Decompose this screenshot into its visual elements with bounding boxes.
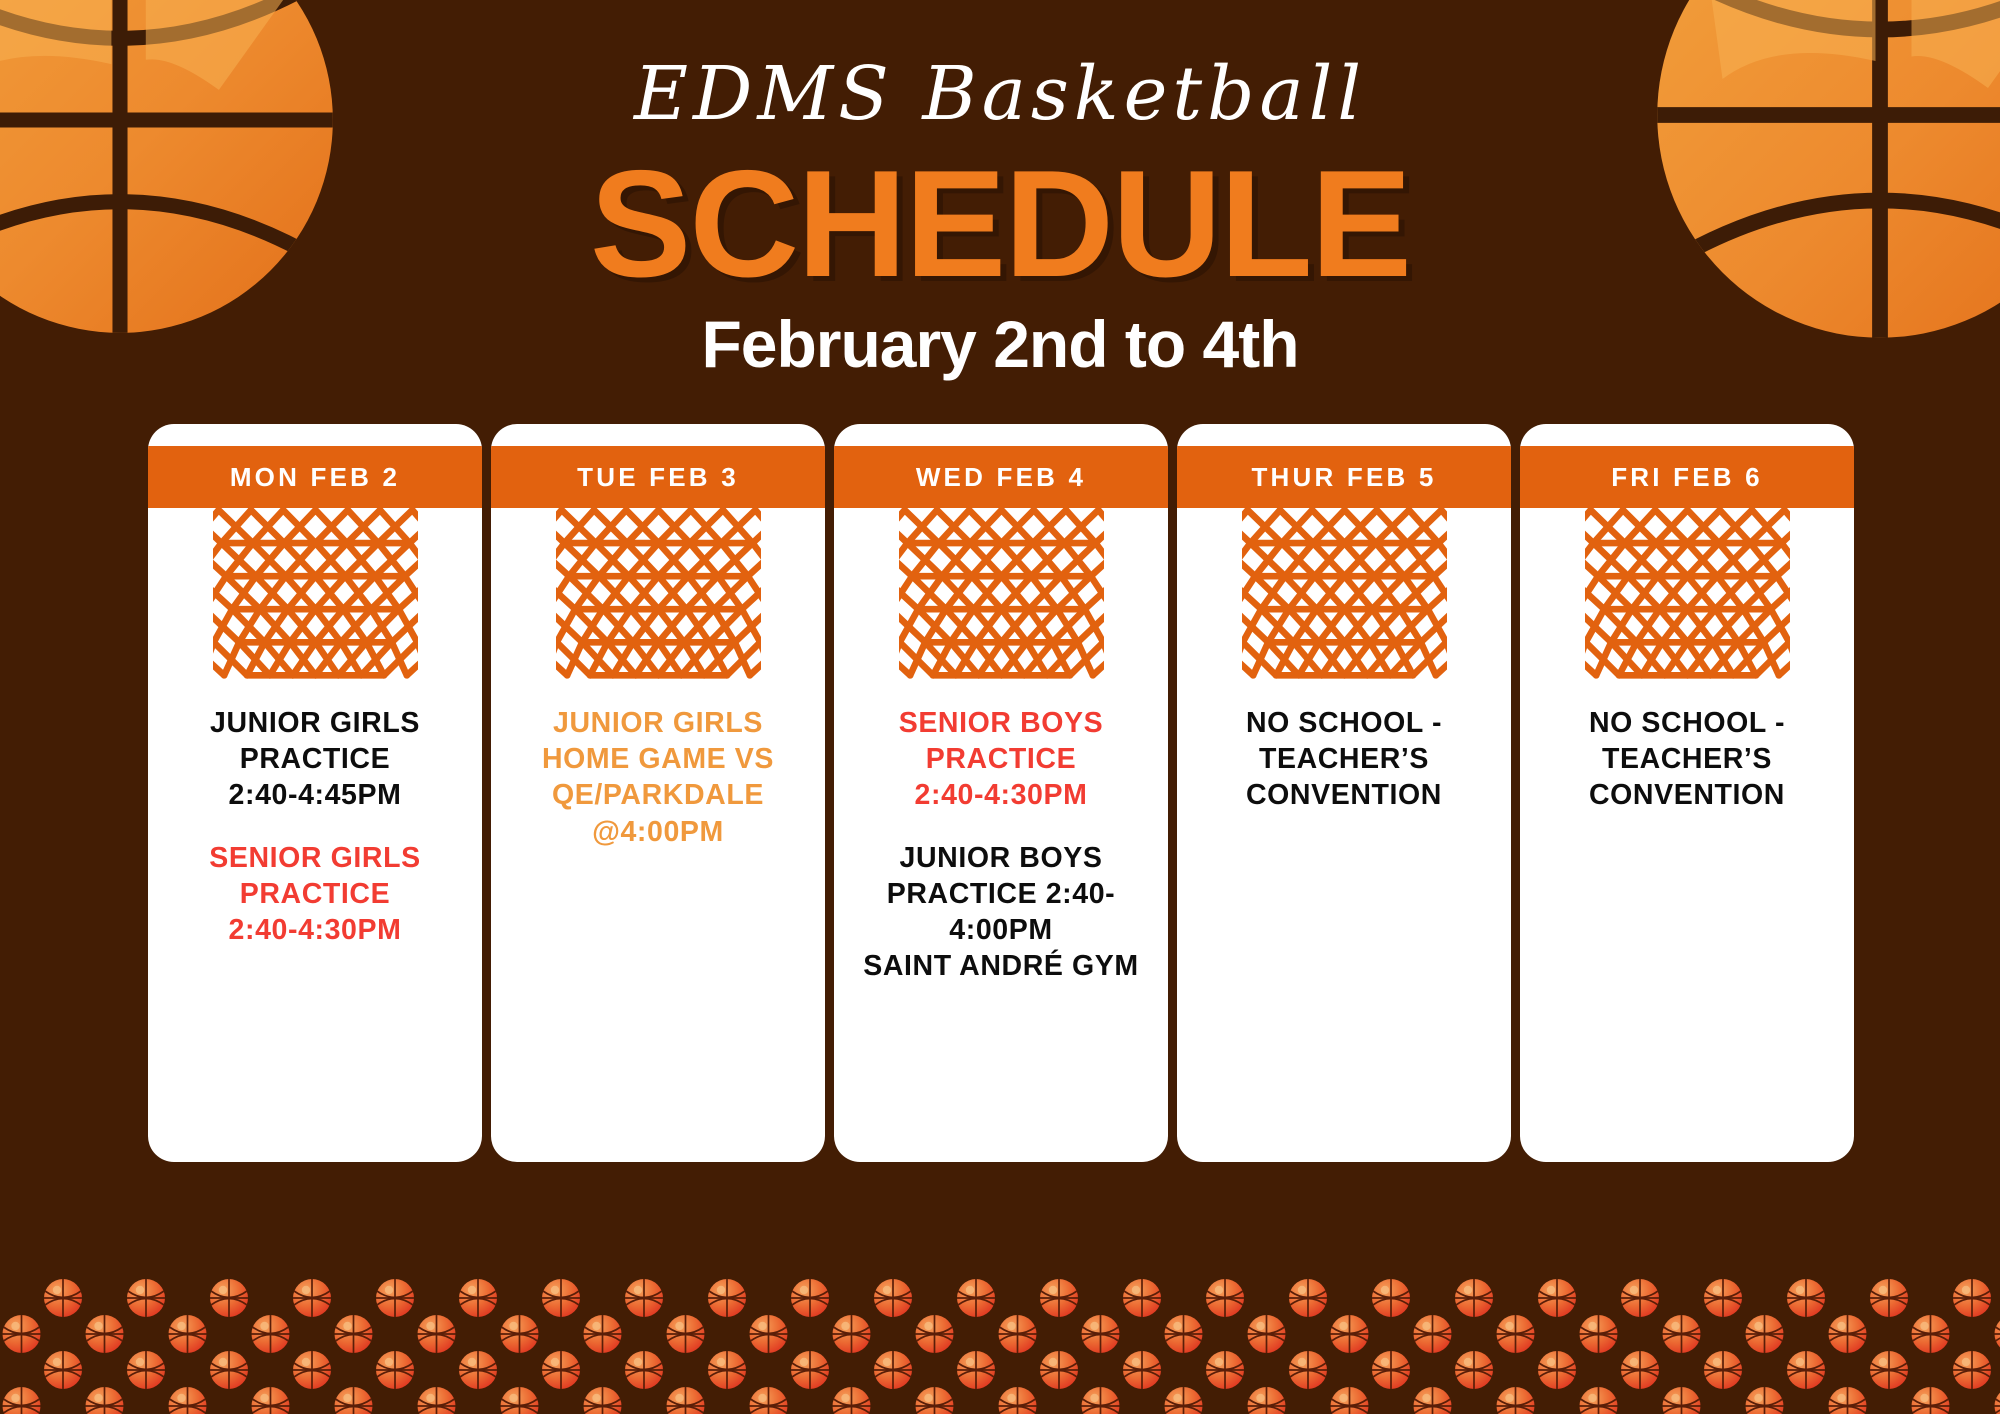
event-line: @4:00PM	[505, 814, 811, 850]
day-header-0: MON FEB 2	[148, 446, 482, 508]
day-header-2: WED FEB 4	[834, 446, 1168, 508]
net-graphic	[148, 508, 482, 683]
event-line: SAINT ANDRÉ GYM	[848, 948, 1154, 984]
basketball-net-icon	[556, 508, 761, 683]
event-block: JUNIOR GIRLSPRACTICE2:40-4:45PM	[162, 705, 468, 814]
basketball-pattern-strip	[0, 1274, 2000, 1414]
event-block: JUNIOR GIRLSHOME GAME VSQE/PARKDALE@4:00…	[505, 705, 811, 850]
net-graphic	[1177, 508, 1511, 683]
day-card[interactable]: THUR FEB 5NO SCHOOL -TEACHER’SCONVENTION	[1177, 424, 1511, 1162]
day-events: SENIOR BOYSPRACTICE2:40-4:30PMJUNIOR BOY…	[834, 683, 1168, 994]
event-line: JUNIOR BOYS	[848, 840, 1154, 876]
event-line: CONVENTION	[1534, 777, 1840, 813]
event-block: SENIOR BOYSPRACTICE2:40-4:30PM	[848, 705, 1154, 814]
net-graphic	[1520, 508, 1854, 683]
basketball-net-icon	[1585, 508, 1790, 683]
day-events: NO SCHOOL -TEACHER’SCONVENTION	[1520, 683, 1854, 824]
event-line: PRACTICE	[848, 741, 1154, 777]
event-line: TEACHER’S	[1191, 741, 1497, 777]
day-events: NO SCHOOL -TEACHER’SCONVENTION	[1177, 683, 1511, 824]
basketball-net-icon	[1242, 508, 1447, 683]
script-title: EDMS Basketball	[0, 46, 2000, 142]
event-line: NO SCHOOL -	[1534, 705, 1840, 741]
event-line: CONVENTION	[1191, 777, 1497, 813]
event-line: JUNIOR GIRLS	[162, 705, 468, 741]
event-line: SENIOR GIRLS	[162, 840, 468, 876]
basketball-net-icon	[213, 508, 418, 683]
poster-header: EDMS Basketball SCHEDULE February 2nd to…	[0, 0, 2000, 381]
day-header-4: FRI FEB 6	[1520, 446, 1854, 508]
event-line: 2:40-4:45PM	[162, 777, 468, 813]
event-block: NO SCHOOL -TEACHER’SCONVENTION	[1191, 705, 1497, 814]
day-card[interactable]: WED FEB 4SENIOR BOYSPRACTICE2:40-4:30PMJ…	[834, 424, 1168, 1162]
day-events: JUNIOR GIRLSHOME GAME VSQE/PARKDALE@4:00…	[491, 683, 825, 860]
day-header-3: THUR FEB 5	[1177, 446, 1511, 508]
event-line: PRACTICE	[162, 876, 468, 912]
date-range-subtitle: February 2nd to 4th	[0, 308, 2000, 381]
event-line: SENIOR BOYS	[848, 705, 1154, 741]
event-block: NO SCHOOL -TEACHER’SCONVENTION	[1534, 705, 1840, 814]
event-line: HOME GAME VS	[505, 741, 811, 777]
event-block: JUNIOR BOYSPRACTICE 2:40-4:00PMSAINT AND…	[848, 840, 1154, 985]
event-line: JUNIOR GIRLS	[505, 705, 811, 741]
day-card[interactable]: FRI FEB 6NO SCHOOL -TEACHER’SCONVENTION	[1520, 424, 1854, 1162]
schedule-grid: MON FEB 2JUNIOR GIRLSPRACTICE2:40-4:45PM…	[148, 424, 1854, 1162]
day-card[interactable]: MON FEB 2JUNIOR GIRLSPRACTICE2:40-4:45PM…	[148, 424, 482, 1162]
net-graphic	[491, 508, 825, 683]
event-line: NO SCHOOL -	[1191, 705, 1497, 741]
basketball-net-icon	[899, 508, 1104, 683]
day-events: JUNIOR GIRLSPRACTICE2:40-4:45PMSENIOR GI…	[148, 683, 482, 958]
event-block: SENIOR GIRLSPRACTICE2:40-4:30PM	[162, 840, 468, 949]
event-line: QE/PARKDALE	[505, 777, 811, 813]
day-header-1: TUE FEB 3	[491, 446, 825, 508]
event-line: TEACHER’S	[1534, 741, 1840, 777]
event-line: 2:40-4:30PM	[848, 777, 1154, 813]
event-line: PRACTICE 2:40-	[848, 876, 1154, 912]
event-line: PRACTICE	[162, 741, 468, 777]
event-line: 4:00PM	[848, 912, 1154, 948]
net-graphic	[834, 508, 1168, 683]
event-line: 2:40-4:30PM	[162, 912, 468, 948]
page-title: SCHEDULE	[0, 148, 2000, 300]
day-card[interactable]: TUE FEB 3JUNIOR GIRLSHOME GAME VSQE/PARK…	[491, 424, 825, 1162]
